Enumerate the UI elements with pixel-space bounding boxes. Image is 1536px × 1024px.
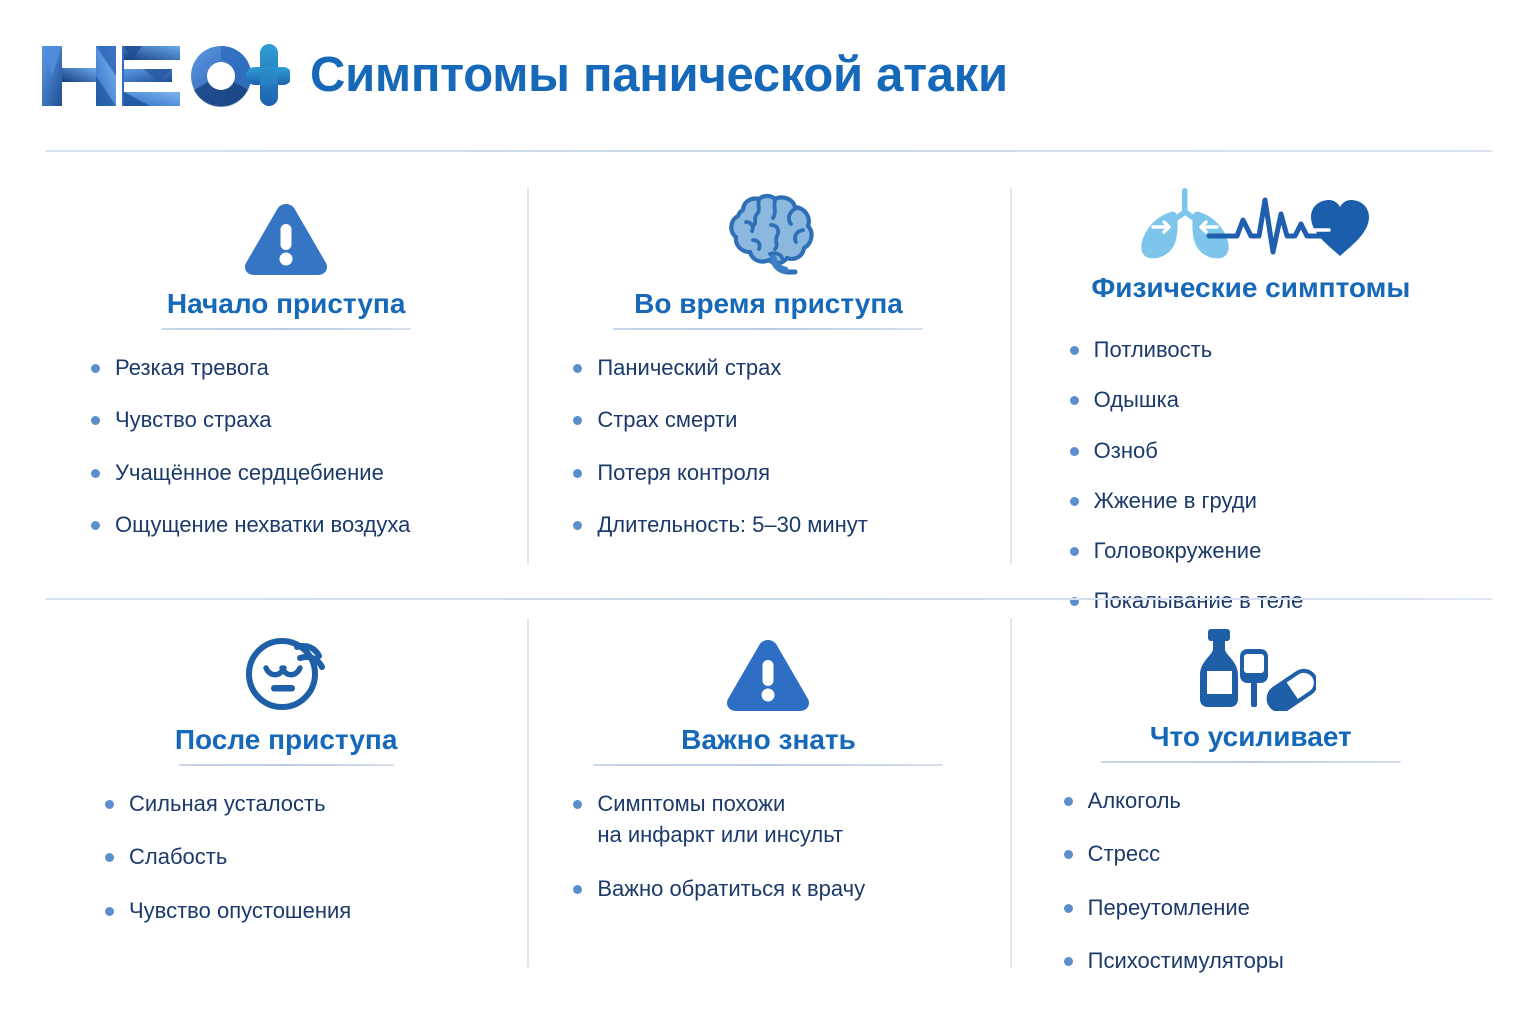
- header-divider: [45, 150, 1492, 152]
- title-underline: [593, 764, 943, 766]
- title-underline: [613, 328, 923, 330]
- symptom-list: Панический страх Страх смерти Потеря кон…: [571, 352, 868, 561]
- list-item: Резкая тревога: [89, 352, 410, 383]
- title-underline: [161, 328, 411, 330]
- cards-grid: Начало приступа Резкая тревога Чувство с…: [45, 160, 1492, 1005]
- symptom-list: Алкоголь Стресс Переутомление Психостиму…: [1062, 785, 1284, 998]
- list-item: Слабость: [103, 841, 351, 872]
- symptom-list: Резкая тревога Чувство страха Учащённое …: [89, 352, 410, 561]
- cards-row-bottom: После приступа Сильная усталость Слабост…: [45, 598, 1492, 998]
- list-item: Переутомление: [1062, 892, 1284, 923]
- card-important: Важно знать Симптомы похожи на инфаркт и…: [527, 598, 1009, 998]
- card-title: Важно знать: [681, 724, 856, 764]
- title-underline: [179, 764, 394, 766]
- tired-face-icon: [240, 624, 332, 714]
- card-during: Во время приступа Панический страх Страх…: [527, 160, 1009, 598]
- vial-icon: [1240, 649, 1268, 707]
- neo-plus-logo: [40, 38, 290, 114]
- card-title: Начало приступа: [167, 288, 406, 328]
- capsule-icon: [1264, 666, 1316, 711]
- title-underline: [1101, 761, 1401, 763]
- infographic-page: Симптомы панической атаки Начало приступ…: [0, 0, 1536, 1024]
- list-item: Ощущение нехватки воздуха: [89, 509, 410, 540]
- list-item: Панический страх: [571, 352, 868, 383]
- list-item: Длительность: 5–30 минут: [571, 509, 868, 540]
- symptom-list: Сильная усталость Слабость Чувство опуст…: [103, 788, 351, 948]
- brain-icon: [713, 186, 823, 278]
- list-item: Потливость: [1068, 334, 1304, 365]
- bottle-icon: [1200, 629, 1238, 707]
- card-physical: Физические симптомы Потливость Одышка Оз…: [1010, 160, 1492, 598]
- list-item: Чувство страха: [89, 404, 410, 435]
- list-item: Головокружение: [1068, 535, 1304, 566]
- lungs-heartbeat-heart-icon: [1129, 186, 1373, 262]
- warning-triangle-icon: [242, 186, 330, 278]
- warning-triangle-icon: [724, 624, 812, 714]
- list-item: Страх смерти: [571, 404, 868, 435]
- list-item: Стресс: [1062, 838, 1284, 869]
- list-item: Психостимуляторы: [1062, 945, 1284, 976]
- list-item: Важно обратиться к врачу: [571, 873, 865, 904]
- card-triggers: Что усиливает Алкоголь Стресс Переутомле…: [1010, 598, 1492, 998]
- lungs-icon: [1141, 188, 1228, 258]
- card-title: Физические симптомы: [1091, 272, 1410, 312]
- page-header: Симптомы панической атаки: [0, 0, 1536, 152]
- card-start: Начало приступа Резкая тревога Чувство с…: [45, 160, 527, 598]
- list-item: Одышка: [1068, 384, 1304, 415]
- card-title: После приступа: [175, 724, 397, 764]
- symptom-list: Потливость Одышка Озноб Жжение в груди Г…: [1068, 334, 1304, 635]
- page-title: Симптомы панической атаки: [310, 50, 1008, 101]
- card-title: Во время приступа: [634, 288, 903, 328]
- list-item: Учащённое сердцебиение: [89, 457, 410, 488]
- card-title: Что усиливает: [1150, 721, 1352, 761]
- list-item: Симптомы похожи на инфаркт или инсульт: [571, 788, 865, 850]
- list-item: Сильная усталость: [103, 788, 351, 819]
- card-after: После приступа Сильная усталость Слабост…: [45, 598, 527, 998]
- cards-row-top: Начало приступа Резкая тревога Чувство с…: [45, 160, 1492, 598]
- list-item: Потеря контроля: [571, 457, 868, 488]
- list-item: Озноб: [1068, 435, 1304, 466]
- list-item: Жжение в груди: [1068, 485, 1304, 516]
- list-item: Чувство опустошения: [103, 895, 351, 926]
- heart-icon: [1311, 200, 1369, 256]
- bottle-pills-icon: [1186, 624, 1316, 711]
- list-item: Алкоголь: [1062, 785, 1284, 816]
- symptom-list: Симптомы похожи на инфаркт или инсульт В…: [571, 788, 865, 926]
